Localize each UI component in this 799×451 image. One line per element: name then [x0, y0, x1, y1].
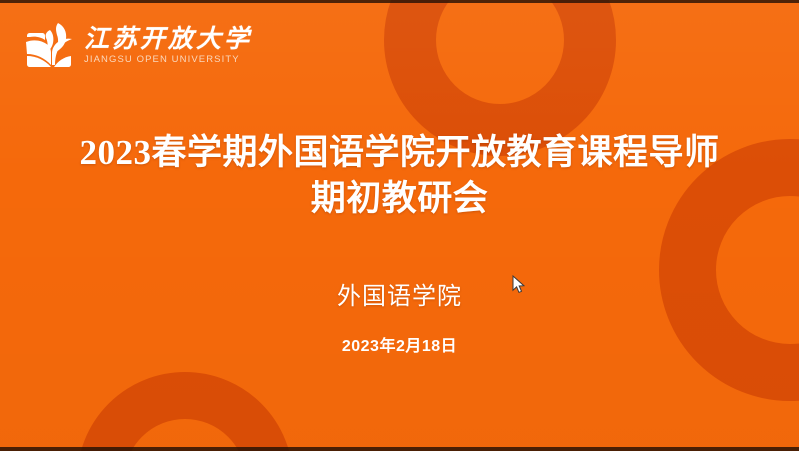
logo-english-name: JIANGSU OPEN UNIVERSITY	[84, 55, 252, 65]
slide-title-line-1: 2023春学期外国语学院开放教育课程导师	[0, 130, 799, 176]
open-book-flame-logo-icon	[24, 20, 74, 72]
event-date: 2023年2月18日	[0, 332, 799, 356]
slide-bottom-edge	[0, 447, 799, 451]
slide-title-line-2: 期初教研会	[0, 176, 799, 222]
slide-title: 2023春学期外国语学院开放教育课程导师 期初教研会	[0, 130, 799, 222]
logo-wordmark: 江苏开放大学 JIANGSU OPEN UNIVERSITY	[84, 27, 252, 65]
ring-shape-bottom-icon	[77, 372, 293, 451]
organization-name: 外国语学院	[0, 276, 799, 311]
presentation-slide: 江苏开放大学 JIANGSU OPEN UNIVERSITY 2023春学期外国…	[0, 0, 799, 451]
logo-chinese-name: 江苏开放大学	[84, 27, 252, 53]
university-logo: 江苏开放大学 JIANGSU OPEN UNIVERSITY	[24, 20, 252, 72]
slide-top-edge	[0, 0, 799, 3]
